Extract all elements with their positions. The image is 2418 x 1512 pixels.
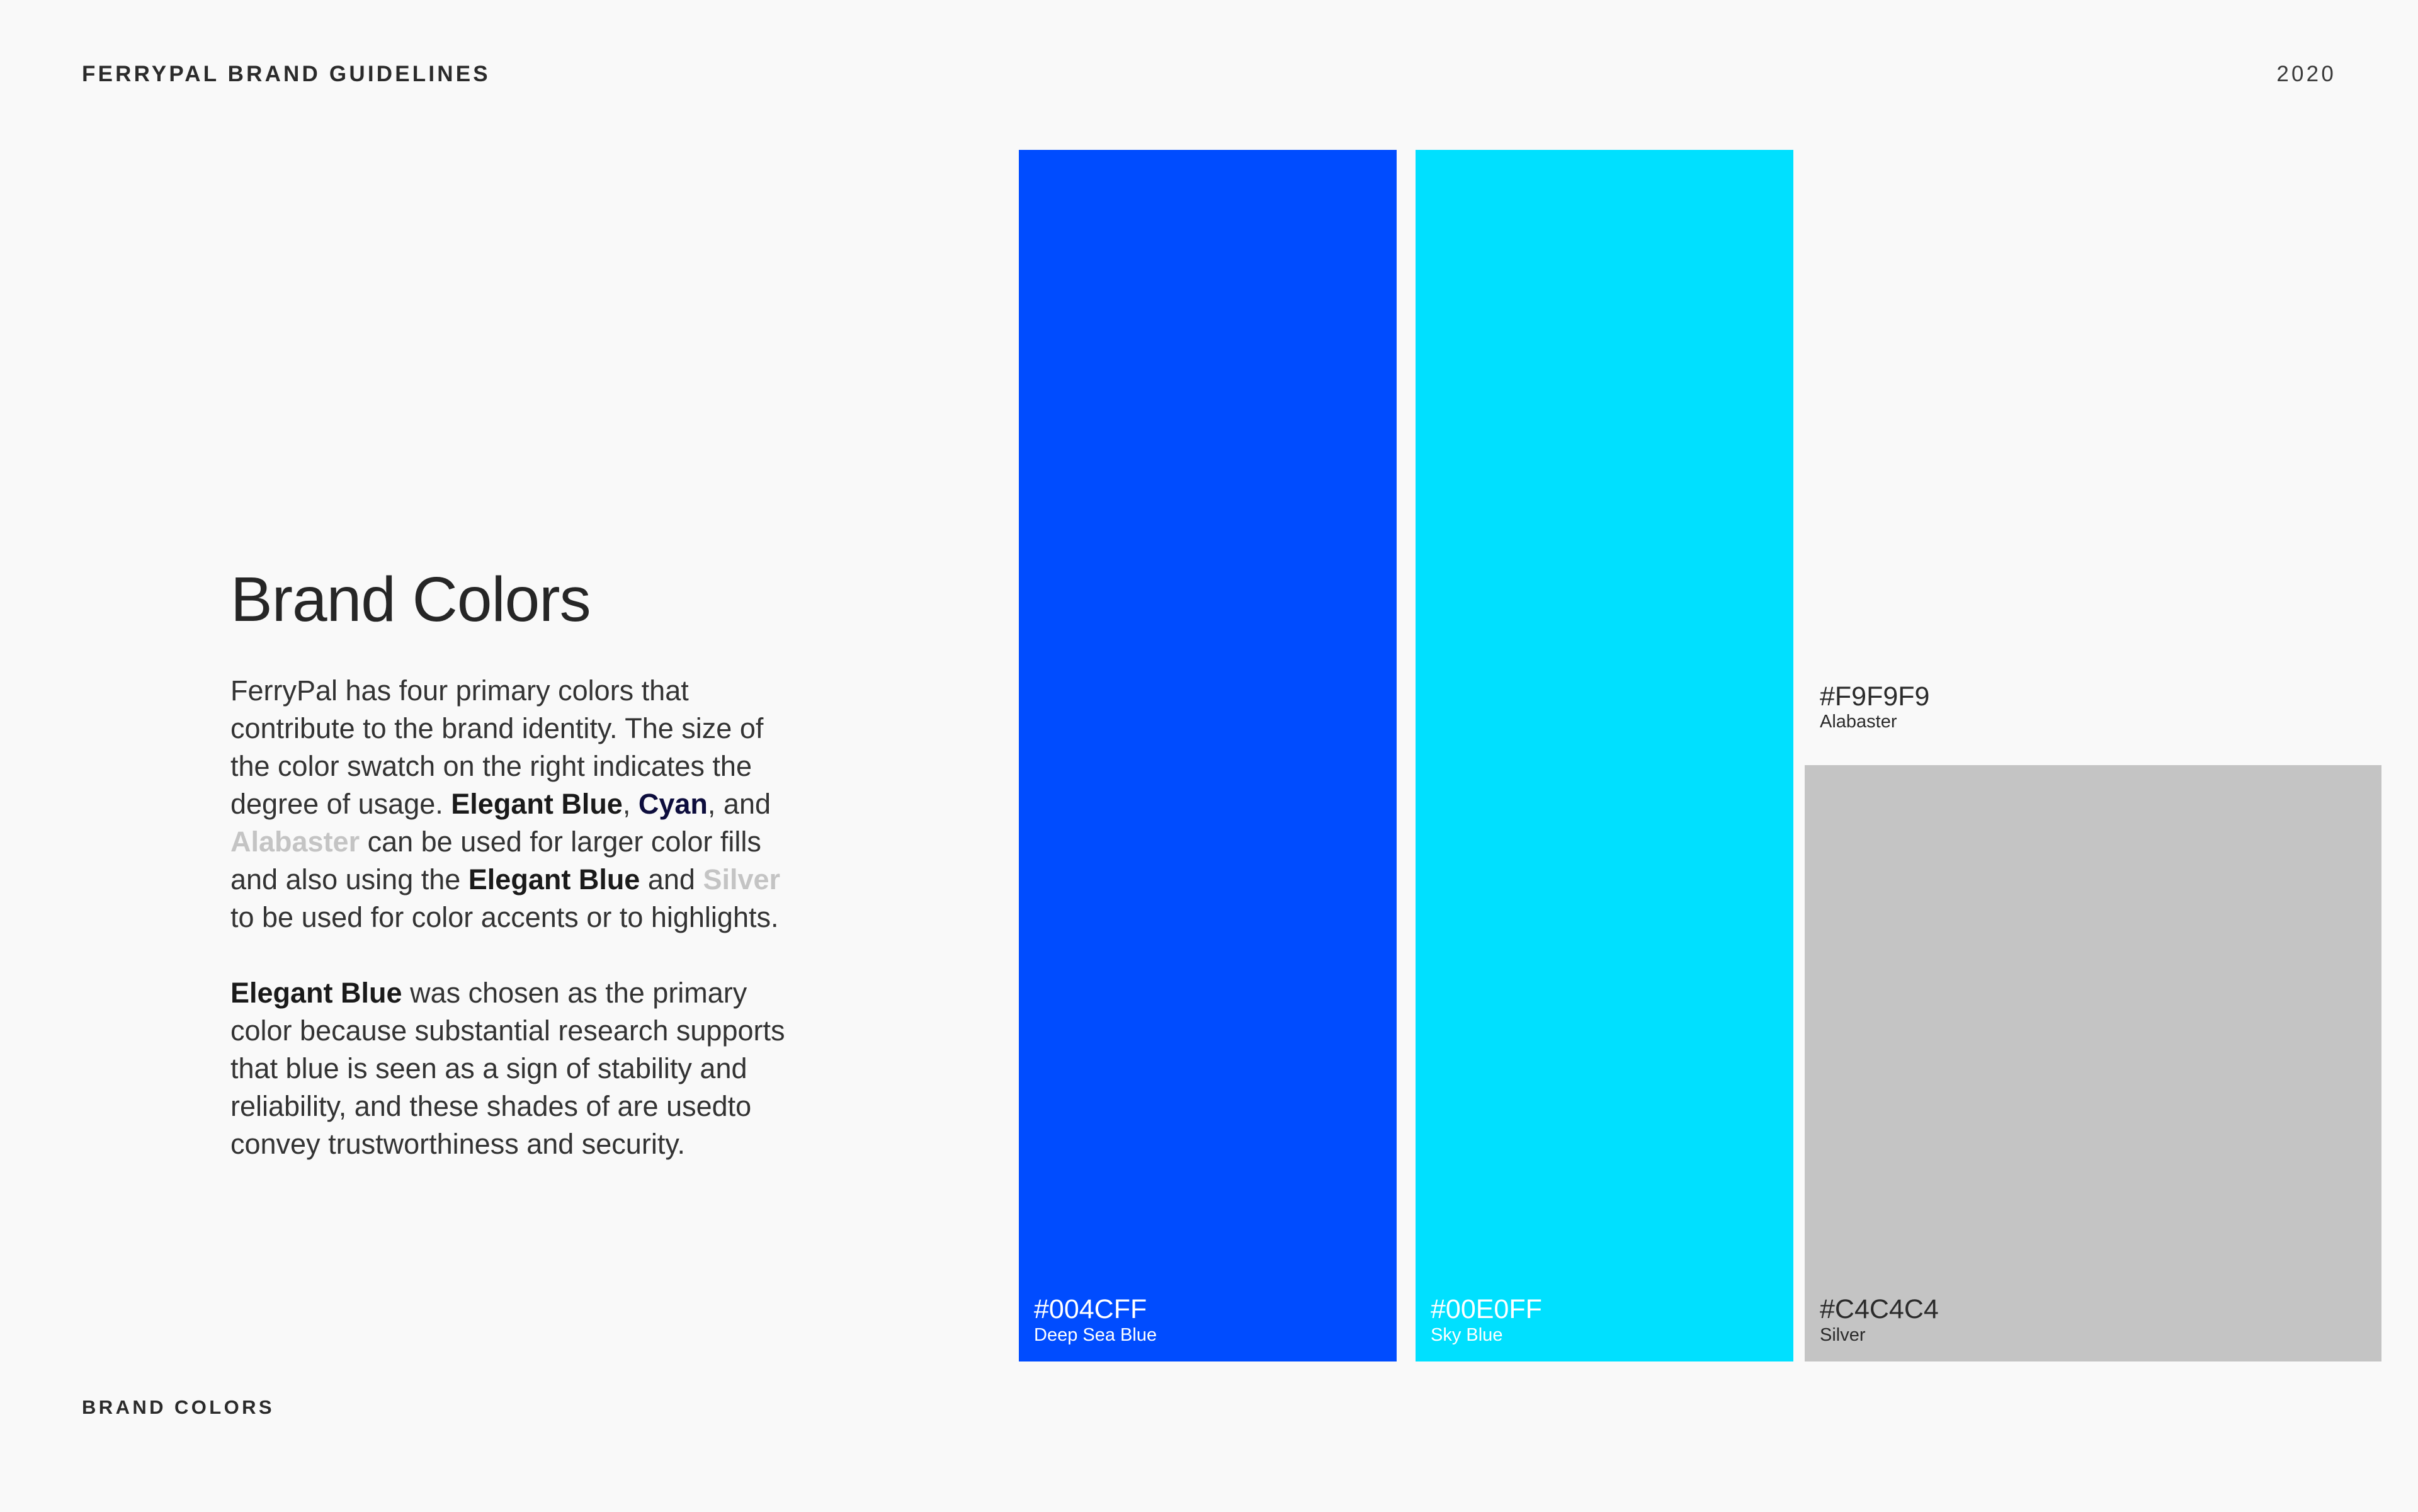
color-swatch-sky-blue[interactable]: #00E0FF Sky Blue <box>1416 150 1793 1361</box>
footer-section-label: BRAND COLORS <box>82 1396 275 1419</box>
paragraph1-segment-5: and <box>640 863 703 895</box>
intro-paragraph: FerryPal has four primary colors that co… <box>230 672 810 936</box>
swatch-hex-alabaster: #F9F9F9 <box>1820 681 1929 712</box>
paragraph1-cyan: Cyan <box>639 788 708 820</box>
swatch-name-sky-blue: Sky Blue <box>1431 1325 1542 1345</box>
swatch-hex-silver: #C4C4C4 <box>1820 1294 1939 1324</box>
swatch-name-deep-sea-blue: Deep Sea Blue <box>1034 1325 1157 1345</box>
paragraph1-elegant-blue-2: Elegant Blue <box>468 863 640 895</box>
paragraph2-elegant-blue: Elegant Blue <box>230 977 402 1009</box>
swatch-label-deep-sea-blue: #004CFF Deep Sea Blue <box>1034 1294 1157 1345</box>
year-label: 2020 <box>2276 62 2336 87</box>
swatch-label-alabaster: #F9F9F9 Alabaster <box>1820 681 1929 732</box>
color-swatch-deep-sea-blue[interactable]: #004CFF Deep Sea Blue <box>1019 150 1397 1361</box>
paragraph1-silver: Silver <box>703 863 780 895</box>
swatch-label-sky-blue: #00E0FF Sky Blue <box>1431 1294 1542 1345</box>
paragraph1-elegant-blue-1: Elegant Blue <box>451 788 623 820</box>
swatch-label-silver: #C4C4C4 Silver <box>1820 1294 1939 1345</box>
paragraph1-segment-3: , and <box>708 788 771 820</box>
color-swatch-silver[interactable]: #C4C4C4 Silver <box>1805 765 2381 1361</box>
paragraph1-segment-6: to be used for color accents or to highl… <box>230 901 779 933</box>
rationale-paragraph: Elegant Blue was chosen as the primary c… <box>230 974 810 1163</box>
swatch-hex-sky-blue: #00E0FF <box>1431 1294 1542 1324</box>
content-column: Brand Colors FerryPal has four primary c… <box>230 567 810 1163</box>
brand-guidelines-title: FERRYPAL BRAND GUIDELINES <box>82 62 491 87</box>
paragraph1-alabaster: Alabaster <box>230 826 360 858</box>
swatch-hex-deep-sea-blue: #004CFF <box>1034 1294 1157 1324</box>
paragraph1-segment-2: , <box>623 788 639 820</box>
page-title: Brand Colors <box>230 567 810 633</box>
swatch-name-alabaster: Alabaster <box>1820 712 1929 732</box>
swatch-name-silver: Silver <box>1820 1325 1939 1345</box>
page-header: FERRYPAL BRAND GUIDELINES 2020 <box>82 55 2336 93</box>
